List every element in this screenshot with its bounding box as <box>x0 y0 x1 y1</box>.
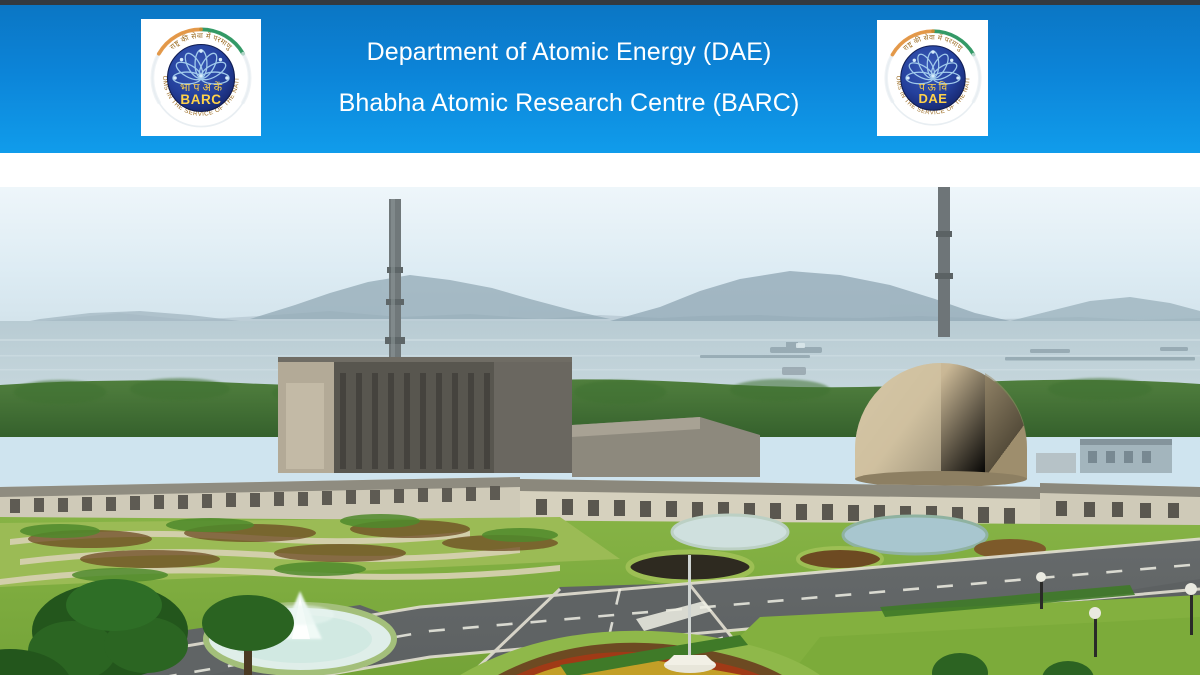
cirus-reactor-building <box>278 357 572 473</box>
dae-emblem-icon: राष्ट्र की सेवा में परमाणु ATOMS IN THE … <box>881 26 985 130</box>
svg-text:BARC: BARC <box>180 91 221 106</box>
barc-emblem-icon: राष्ट्र की सेवा में परमाणु ATOMS IN THE … <box>147 24 255 132</box>
header-title-dae: Department of Atomic Energy (DAE) <box>367 38 772 67</box>
header-title-barc: Bhabha Atomic Research Centre (BARC) <box>339 89 800 118</box>
site-header-banner: राष्ट्र की सेवा में परमाणु ATOMS IN THE … <box>0 5 1200 153</box>
barc-campus-aerial-photo <box>0 187 1200 675</box>
header-photo-gutter <box>0 153 1200 187</box>
dae-logo-plate[interactable]: राष्ट्र की सेवा में परमाणु ATOMS IN THE … <box>877 20 988 136</box>
svg-text:DAE: DAE <box>918 91 947 106</box>
header-titles: Department of Atomic Energy (DAE) Bhabha… <box>261 19 877 136</box>
page-root: राष्ट्र की सेवा में परमाणु ATOMS IN THE … <box>0 0 1200 675</box>
barc-logo-plate[interactable]: राष्ट्र की सेवा में परमाणु ATOMS IN THE … <box>141 19 261 136</box>
